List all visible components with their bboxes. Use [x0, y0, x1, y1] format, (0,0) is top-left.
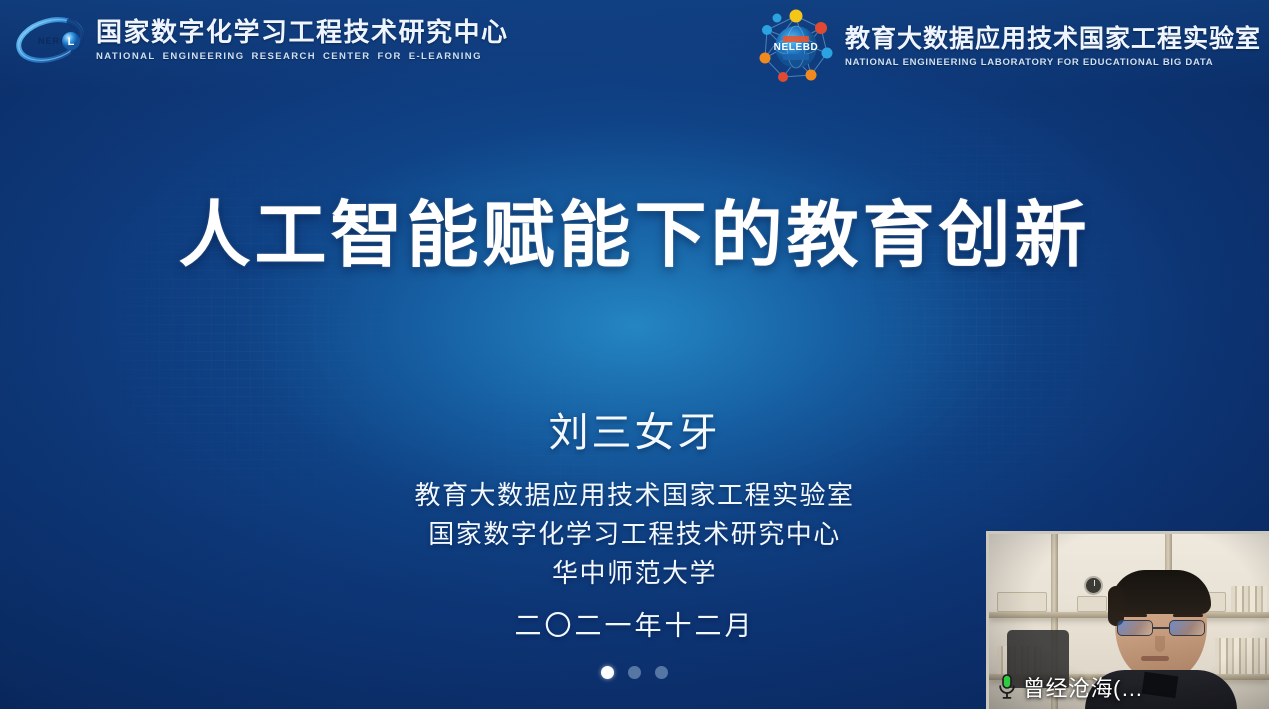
nerc-title-en: NATIONALENGINEERINGRESEARCHCENTERFORE-LE… — [96, 51, 509, 62]
nerc-en-word-4: FOR — [377, 51, 401, 62]
pagination-dot-3[interactable] — [655, 666, 668, 679]
svg-text:NELEBD: NELEBD — [774, 42, 819, 53]
nelebd-logo: NELEBD 教育大数据应用技术国家工程实验室 NATIONAL ENGINEE… — [753, 8, 1261, 86]
svg-text:L: L — [68, 36, 75, 48]
nerc-en-word-1: ENGINEERING — [163, 51, 245, 62]
nerc-logo-text: 国家数字化学习工程技术研究中心 NATIONALENGINEERINGRESEA… — [96, 18, 509, 62]
nelebd-title-cn: 教育大数据应用技术国家工程实验室 — [845, 26, 1261, 54]
participant-name-label: 曾经沧海(… — [1023, 671, 1143, 703]
presenter-name: 刘三女牙 — [0, 400, 1269, 458]
nelebd-network-globe-icon: NELEBD — [753, 8, 839, 86]
pagination-dot-2[interactable] — [628, 666, 641, 679]
nerc-en-word-2: RESEARCH — [252, 51, 317, 62]
pagination-dot-1[interactable] — [601, 666, 614, 679]
nerc-en-word-3: CENTER — [323, 51, 370, 62]
microphone-icon[interactable] — [997, 674, 1017, 700]
nerc-swoosh-icon: NERC L — [12, 12, 92, 68]
participant-video-tile[interactable]: 曾经沧海(… — [986, 531, 1269, 709]
nerc-en-word-0: NATIONAL — [96, 51, 156, 62]
nerc-logo: NERC L 国家数字化学习工程技术研究中心 NATIONALENGINEERI… — [12, 12, 509, 68]
nerc-en-word-5: E-LEARNING — [409, 51, 482, 62]
slide-title: 人工智能赋能下的教育创新 — [0, 196, 1269, 277]
affiliation-line: 教育大数据应用技术国家工程实验室 — [0, 476, 1269, 515]
nelebd-title-en: NATIONAL ENGINEERING LABORATORY FOR EDUC… — [845, 57, 1261, 68]
participant-name-plate: 曾经沧海(… — [997, 671, 1143, 703]
presentation-stage: NERC L 国家数字化学习工程技术研究中心 NATIONALENGINEERI… — [0, 0, 1269, 709]
nelebd-logo-text: 教育大数据应用技术国家工程实验室 NATIONAL ENGINEERING LA… — [845, 26, 1261, 69]
slide-header: NERC L 国家数字化学习工程技术研究中心 NATIONALENGINEERI… — [0, 0, 1269, 92]
nerc-title-cn: 国家数字化学习工程技术研究中心 — [96, 18, 509, 47]
